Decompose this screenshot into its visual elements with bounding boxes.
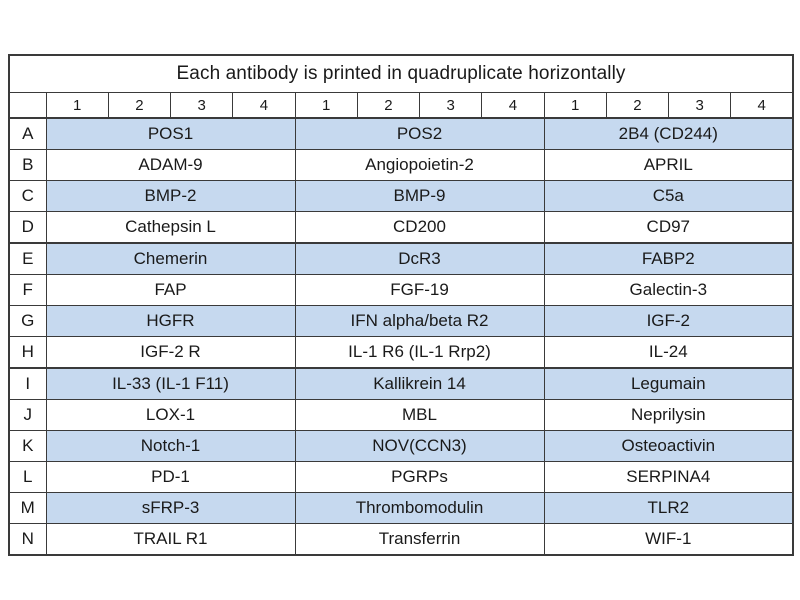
antibody-cell: CD97 [544, 212, 793, 244]
table-row: DCathepsin LCD200CD97 [9, 212, 793, 244]
antibody-cell: Transferrin [295, 524, 544, 556]
antibody-cell: LOX-1 [46, 400, 295, 431]
antibody-cell: IGF-2 R [46, 337, 295, 369]
table-row: HIGF-2 RIL-1 R6 (IL-1 Rrp2)IL-24 [9, 337, 793, 369]
map-title: Each antibody is printed in quadruplicat… [9, 55, 793, 93]
antibody-cell: Angiopoietin-2 [295, 150, 544, 181]
antibody-array-table: Each antibody is printed in quadruplicat… [8, 54, 794, 556]
column-number-3-3: 3 [669, 93, 731, 119]
table-row: GHGFRIFN alpha/beta R2IGF-2 [9, 306, 793, 337]
antibody-cell: Cathepsin L [46, 212, 295, 244]
antibody-cell: HGFR [46, 306, 295, 337]
antibody-cell: IFN alpha/beta R2 [295, 306, 544, 337]
antibody-cell: C5a [544, 181, 793, 212]
table-body: Each antibody is printed in quadruplicat… [9, 55, 793, 555]
row-label-c: C [9, 181, 46, 212]
antibody-cell: POS2 [295, 118, 544, 150]
table-row: BADAM-9Angiopoietin-2APRIL [9, 150, 793, 181]
row-label-b: B [9, 150, 46, 181]
antibody-array-map: Each antibody is printed in quadruplicat… [8, 54, 792, 556]
row-label-l: L [9, 462, 46, 493]
row-label-i: I [9, 368, 46, 400]
table-row: JLOX-1MBLNeprilysin [9, 400, 793, 431]
row-label-k: K [9, 431, 46, 462]
antibody-cell: Osteoactivin [544, 431, 793, 462]
antibody-cell: IL-1 R6 (IL-1 Rrp2) [295, 337, 544, 369]
antibody-cell: 2B4 (CD244) [544, 118, 793, 150]
column-number-1-2: 2 [108, 93, 170, 119]
table-row: EChemerinDcR3FABP2 [9, 243, 793, 275]
antibody-cell: MBL [295, 400, 544, 431]
antibody-cell: ADAM-9 [46, 150, 295, 181]
antibody-cell: BMP-2 [46, 181, 295, 212]
antibody-cell: Kallikrein 14 [295, 368, 544, 400]
row-label-a: A [9, 118, 46, 150]
column-number-3-1: 1 [544, 93, 606, 119]
antibody-cell: Notch-1 [46, 431, 295, 462]
row-label-j: J [9, 400, 46, 431]
row-label-n: N [9, 524, 46, 556]
row-label-f: F [9, 275, 46, 306]
column-number-2-4: 4 [482, 93, 544, 119]
row-label-d: D [9, 212, 46, 244]
table-row: LPD-1PGRPsSERPINA4 [9, 462, 793, 493]
antibody-cell: FAP [46, 275, 295, 306]
column-number-3-4: 4 [731, 93, 793, 119]
table-row: KNotch-1NOV(CCN3)Osteoactivin [9, 431, 793, 462]
title-row: Each antibody is printed in quadruplicat… [9, 55, 793, 93]
row-label-m: M [9, 493, 46, 524]
antibody-cell: IL-33 (IL-1 F11) [46, 368, 295, 400]
table-row: FFAPFGF-19Galectin-3 [9, 275, 793, 306]
column-number-2-2: 2 [357, 93, 419, 119]
antibody-cell: BMP-9 [295, 181, 544, 212]
antibody-cell: CD200 [295, 212, 544, 244]
antibody-cell: Neprilysin [544, 400, 793, 431]
antibody-cell: FABP2 [544, 243, 793, 275]
column-number-2-3: 3 [420, 93, 482, 119]
antibody-cell: DcR3 [295, 243, 544, 275]
antibody-cell: Galectin-3 [544, 275, 793, 306]
column-number-1-4: 4 [233, 93, 295, 119]
antibody-cell: IL-24 [544, 337, 793, 369]
antibody-cell: NOV(CCN3) [295, 431, 544, 462]
column-number-header-row: 123412341234 [9, 93, 793, 119]
antibody-cell: Chemerin [46, 243, 295, 275]
antibody-cell: PD-1 [46, 462, 295, 493]
antibody-cell: TLR2 [544, 493, 793, 524]
antibody-cell: SERPINA4 [544, 462, 793, 493]
column-number-1-1: 1 [46, 93, 108, 119]
column-number-2-1: 1 [295, 93, 357, 119]
column-number-3-2: 2 [606, 93, 668, 119]
antibody-cell: sFRP-3 [46, 493, 295, 524]
corner-blank-cell [9, 93, 46, 119]
antibody-cell: TRAIL R1 [46, 524, 295, 556]
row-label-e: E [9, 243, 46, 275]
table-row: MsFRP-3ThrombomodulinTLR2 [9, 493, 793, 524]
row-label-h: H [9, 337, 46, 369]
antibody-cell: Thrombomodulin [295, 493, 544, 524]
antibody-cell: APRIL [544, 150, 793, 181]
antibody-cell: Legumain [544, 368, 793, 400]
table-row: NTRAIL R1TransferrinWIF-1 [9, 524, 793, 556]
antibody-cell: POS1 [46, 118, 295, 150]
antibody-cell: IGF-2 [544, 306, 793, 337]
table-row: IIL-33 (IL-1 F11)Kallikrein 14Legumain [9, 368, 793, 400]
table-row: CBMP-2BMP-9C5a [9, 181, 793, 212]
antibody-cell: PGRPs [295, 462, 544, 493]
antibody-cell: FGF-19 [295, 275, 544, 306]
row-label-g: G [9, 306, 46, 337]
table-row: APOS1POS22B4 (CD244) [9, 118, 793, 150]
column-number-1-3: 3 [171, 93, 233, 119]
antibody-cell: WIF-1 [544, 524, 793, 556]
